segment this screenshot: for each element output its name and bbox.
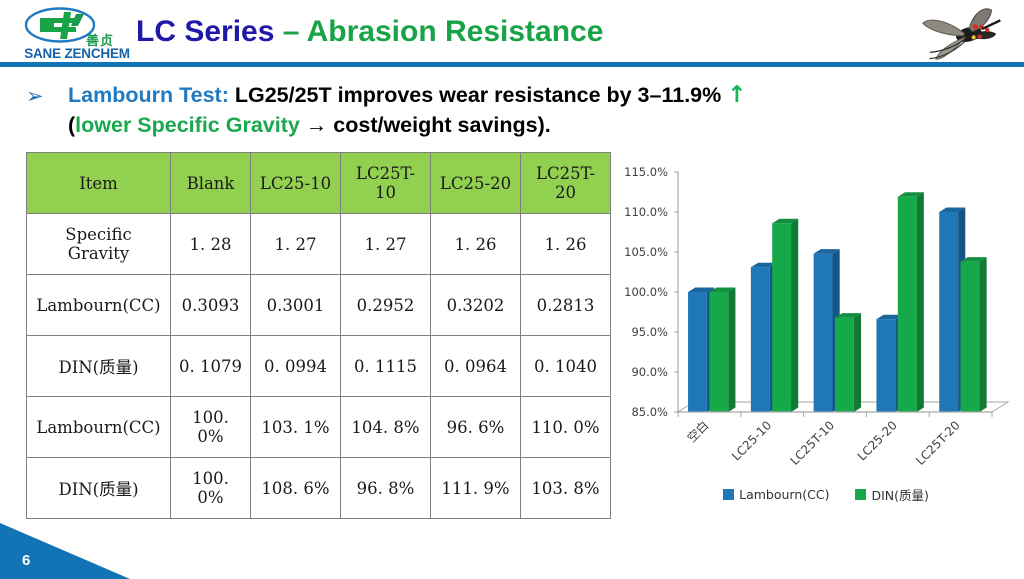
y-tick-label: 100.0%: [624, 285, 668, 299]
y-tick-label: 110.0%: [624, 205, 668, 219]
bullet-text: Lambourn Test: LG25/25T improves wear re…: [68, 80, 1006, 140]
results-table: Item Blank LC25-10 LC25T-10 LC25-20 LC25…: [26, 152, 611, 519]
y-tick-label: 105.0%: [624, 245, 668, 259]
row-label-line1: Specific: [65, 225, 131, 244]
cell: 111. 9%: [431, 458, 521, 519]
title-secondary: – Abrasion Resistance: [283, 15, 604, 48]
page-title: LC Series – Abrasion Resistance: [136, 12, 603, 52]
column-header-lc25t-20: LC25T-20: [521, 153, 611, 214]
legend-item-lambourn: Lambourn(CC): [723, 485, 829, 504]
title-primary: LC Series: [136, 15, 283, 48]
cell: 103. 8%: [521, 458, 611, 519]
y-axis-labels: 115.0%110.0%105.0%100.0%95.0%90.0%85.0%: [624, 165, 668, 419]
bullet-block: ➢ Lambourn Test: LG25/25T improves wear …: [26, 80, 1006, 140]
table-row: DIN(质量) 100. 0% 108. 6% 96. 8% 111. 9% 1…: [27, 458, 611, 519]
table-row: DIN(质量) 0. 1079 0. 0994 0. 1115 0. 0964 …: [27, 336, 611, 397]
column-header-lc25t-10: LC25T-10: [341, 153, 431, 214]
cell: 0.2813: [521, 275, 611, 336]
slide-header: 善贞 SANE ZENCHEM LC Series – Abrasion Res…: [0, 0, 1024, 68]
cell: 0.3001: [251, 275, 341, 336]
x-tick-label: LC25T-10: [788, 418, 838, 468]
chart-legend: Lambourn(CC) DIN(质量): [696, 485, 956, 504]
row-label-din: DIN(质量): [27, 336, 171, 397]
bullet-mid: LG25/25T improves wear resistance by 3–1…: [229, 83, 727, 107]
row-label-lambourn-cc: Lambourn(CC): [27, 275, 171, 336]
cell: 0.2952: [341, 275, 431, 336]
cell: 1. 27: [251, 214, 341, 275]
cell: 100. 0%: [171, 458, 251, 519]
bar-1-2: [835, 313, 861, 412]
legend-label: DIN(质量): [871, 485, 928, 504]
footer-triangle: [0, 523, 130, 579]
chart-canvas: 115.0%110.0%105.0%100.0%95.0%90.0%85.0% …: [616, 160, 1016, 490]
cell: 110. 0%: [521, 397, 611, 458]
legend-swatch-blue: [723, 489, 734, 500]
cell: 96. 6%: [431, 397, 521, 458]
cell: 0.3093: [171, 275, 251, 336]
butterfly-image: [906, 0, 1018, 64]
bar-1-0: [709, 288, 735, 413]
column-header-item: Item: [27, 153, 171, 214]
cell: 0. 1115: [341, 336, 431, 397]
row-label-din-pct: DIN(质量): [27, 458, 171, 519]
up-arrow-icon: ↑: [727, 82, 746, 108]
cell: 103. 1%: [251, 397, 341, 458]
logo-wordmark: SANE ZENCHEM: [18, 46, 136, 61]
y-tick-label: 90.0%: [631, 365, 668, 379]
bar-chart: 115.0%110.0%105.0%100.0%95.0%90.0%85.0% …: [616, 160, 1016, 510]
table-header-row: Item Blank LC25-10 LC25T-10 LC25-20 LC25…: [27, 153, 611, 214]
cell: 0. 1040: [521, 336, 611, 397]
cell: 104. 8%: [341, 397, 431, 458]
cell: 0. 0994: [251, 336, 341, 397]
x-tick-label: LC25T-20: [913, 418, 963, 468]
table-row: Lambourn(CC) 100. 0% 103. 1% 104. 8% 96.…: [27, 397, 611, 458]
bar-1-4: [961, 257, 987, 412]
bar-1-3: [898, 192, 924, 412]
table-row: Lambourn(CC) 0.3093 0.3001 0.2952 0.3202…: [27, 275, 611, 336]
y-tick-label: 95.0%: [631, 325, 668, 339]
row-label-line2: Gravity: [68, 244, 129, 263]
row-label-specific-gravity: Specific Gravity: [27, 214, 171, 275]
cell: 1. 26: [521, 214, 611, 275]
y-tick-label: 115.0%: [624, 165, 668, 179]
cell: 1. 28: [171, 214, 251, 275]
page-number: 6: [22, 552, 30, 569]
bullet-arrow-icon: ➢: [26, 84, 44, 108]
header-divider: [0, 62, 1024, 67]
cell: 0.3202: [431, 275, 521, 336]
y-tick-label: 85.0%: [631, 405, 668, 419]
legend-label: Lambourn(CC): [739, 487, 829, 502]
bullet-tail: → cost/weight savings).: [300, 113, 551, 137]
cell: 0. 1079: [171, 336, 251, 397]
legend-swatch-green: [855, 489, 866, 500]
row-label-lambourn-cc-pct: Lambourn(CC): [27, 397, 171, 458]
cell: 1. 27: [341, 214, 431, 275]
cell: 1. 26: [431, 214, 521, 275]
column-header-lc25-20: LC25-20: [431, 153, 521, 214]
cell: 0. 0964: [431, 336, 521, 397]
x-tick-label: LC25-20: [855, 418, 900, 463]
column-header-lc25-10: LC25-10: [251, 153, 341, 214]
legend-item-din: DIN(质量): [855, 485, 928, 504]
x-tick-label: LC25-10: [729, 418, 774, 463]
bullet-green: lower Specific Gravity: [75, 113, 300, 137]
x-axis-labels: 空白LC25-10LC25T-10LC25-20LC25T-20: [684, 418, 963, 468]
column-header-blank: Blank: [171, 153, 251, 214]
bar-1-1: [772, 219, 798, 412]
bullet-lead: Lambourn Test:: [68, 83, 229, 107]
x-tick-label: 空白: [684, 418, 712, 446]
cell: 96. 8%: [341, 458, 431, 519]
cell: 100. 0%: [171, 397, 251, 458]
cell: 108. 6%: [251, 458, 341, 519]
table-row: Specific Gravity 1. 28 1. 27 1. 27 1. 26…: [27, 214, 611, 275]
chart-bars: [688, 192, 987, 412]
company-logo: 善贞 SANE ZENCHEM: [18, 6, 136, 62]
